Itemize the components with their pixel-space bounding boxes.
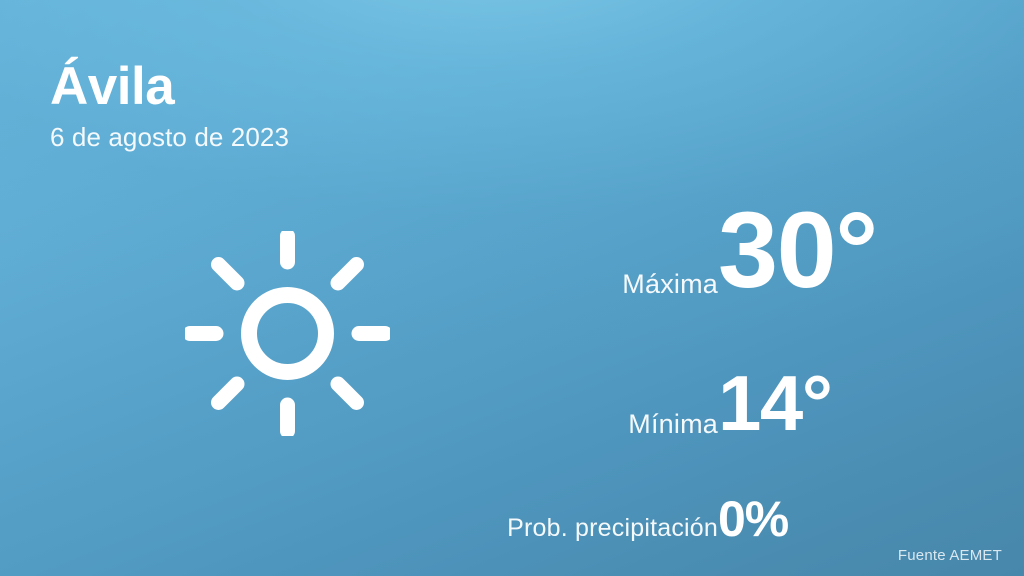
- reading-value-maxima: 30°: [718, 196, 877, 304]
- reading-row-precipitation: Prob. precipitación 0%: [718, 494, 788, 544]
- reading-label-minima: Mínima: [628, 409, 718, 440]
- reading-label-precipitation: Prob. precipitación: [507, 514, 718, 543]
- reading-row-minima: Mínima 14°: [718, 364, 831, 442]
- city-name: Ávila: [50, 58, 289, 115]
- reading-value-minima: 14°: [718, 364, 831, 442]
- forecast-date: 6 de agosto de 2023: [50, 124, 289, 150]
- data-source-credit: Fuente AEMET: [898, 547, 1002, 564]
- card-header: Ávila 6 de agosto de 2023: [50, 58, 289, 150]
- reading-value-precipitation: 0%: [718, 494, 788, 544]
- sun-icon-glyph: [185, 231, 390, 436]
- sun-icon: [185, 231, 390, 436]
- reading-label-maxima: Máxima: [622, 269, 718, 300]
- weather-card: Ávila 6 de agosto de 2023 Máxima: [0, 0, 1024, 576]
- reading-row-maxima: Máxima 30°: [718, 196, 877, 304]
